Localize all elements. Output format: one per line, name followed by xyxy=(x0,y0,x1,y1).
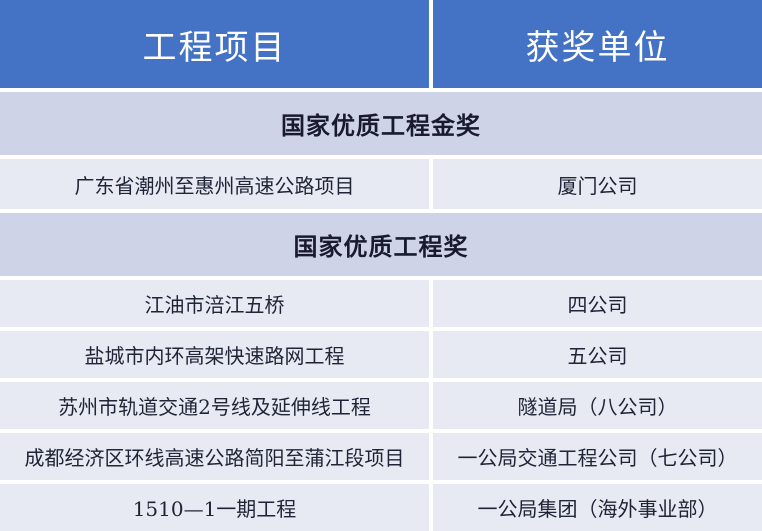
cell-project: 广东省潮州至惠州高速公路项目 xyxy=(0,159,429,209)
cell-unit: 四公司 xyxy=(433,280,762,327)
cell-unit: 五公司 xyxy=(433,331,762,378)
cell-project: 江油市涪江五桥 xyxy=(0,280,429,327)
cell-unit: 一公局交通工程公司（七公司） xyxy=(433,433,762,480)
section-title: 国家优质工程奖 xyxy=(294,227,469,262)
award-table: 工程项目 获奖单位 国家优质工程金奖 广东省潮州至惠州高速公路项目 厦门公司 国… xyxy=(0,0,762,508)
table-row: 盐城市内环高架快速路网工程 五公司 xyxy=(0,331,762,378)
cell-project: 苏州市轨道交通2号线及延伸线工程 xyxy=(0,382,429,429)
table-row: 成都经济区环线高速公路简阳至蒲江段项目 一公局交通工程公司（七公司） xyxy=(0,433,762,480)
table-header-row: 工程项目 获奖单位 xyxy=(0,0,762,88)
cell-project: 成都经济区环线高速公路简阳至蒲江段项目 xyxy=(0,433,429,480)
table-row: 江油市涪江五桥 四公司 xyxy=(0,280,762,327)
column-header-project: 工程项目 xyxy=(0,0,429,88)
section-title: 国家优质工程金奖 xyxy=(281,106,481,141)
cell-unit: 隧道局（八公司） xyxy=(433,382,762,429)
cell-project: 盐城市内环高架快速路网工程 xyxy=(0,331,429,378)
table-row: 广东省潮州至惠州高速公路项目 厦门公司 xyxy=(0,159,762,209)
column-header-unit: 获奖单位 xyxy=(433,0,762,88)
section-header-row-gold: 国家优质工程金奖 xyxy=(0,92,762,155)
section-header-row-standard: 国家优质工程奖 xyxy=(0,213,762,276)
table-row: 苏州市轨道交通2号线及延伸线工程 隧道局（八公司） xyxy=(0,382,762,429)
cell-unit: 厦门公司 xyxy=(433,159,762,209)
